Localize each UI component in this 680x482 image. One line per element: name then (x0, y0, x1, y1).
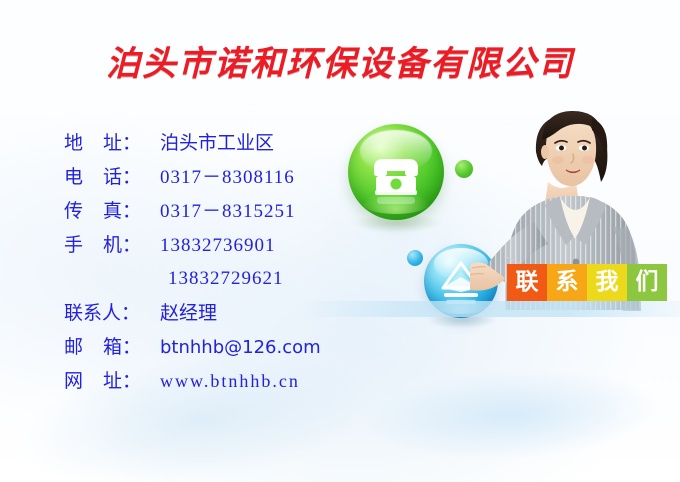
contact-row: 地址：泊头市工业区 (64, 126, 364, 160)
contact-row: 电话：0317－8308116 (64, 160, 364, 194)
telephone-glyph (348, 124, 444, 220)
contact-row-value: 13832729621 (168, 262, 284, 296)
contact-row-label: 网址： (64, 364, 160, 398)
bottom-band (300, 301, 680, 317)
contact-row-label: 联系人： (64, 296, 160, 330)
contact-row-label: 传真： (64, 194, 160, 228)
contact-row: 手机：13832736901 (64, 228, 364, 262)
contact-us-tile: 联 (507, 264, 547, 301)
contact-row-value: www.btnhhb.cn (160, 364, 300, 398)
contact-row-label: 电话： (64, 160, 160, 194)
contact-row-value: 0317－8315251 (160, 195, 296, 229)
contact-row: 邮箱：btnhhb@126.com (64, 330, 364, 364)
contact-row: 13832729621 (64, 262, 364, 296)
telephone-icon (348, 124, 444, 220)
contact-us-tile: 我 (587, 264, 627, 301)
contact-row: 传真：0317－8315251 (64, 194, 364, 228)
contact-row-value: 泊头市工业区 (160, 126, 274, 160)
contact-row-label: 邮箱： (64, 330, 160, 364)
contact-us-tile: 们 (627, 264, 667, 301)
contact-us-tile: 系 (547, 264, 587, 301)
contact-details: 地址：泊头市工业区电话：0317－8308116传真：0317－8315251手… (64, 126, 364, 398)
contact-us-tiles: 联系我们 (507, 264, 667, 301)
contact-row-label: 手机： (64, 228, 160, 262)
contact-row-value: btnhhb@126.com (160, 331, 321, 365)
contact-row-value: 赵经理 (160, 296, 217, 330)
contact-row-value: 13832736901 (160, 229, 276, 263)
contact-row: 网址：www.btnhhb.cn (64, 364, 364, 398)
company-title: 泊头市诺和环保设备有限公司 (0, 36, 680, 85)
blue-dot-icon (407, 250, 423, 266)
contact-row-label: 地址： (64, 126, 160, 160)
contact-row-value: 0317－8308116 (160, 161, 295, 195)
contact-poster: 泊头市诺和环保设备有限公司 地址：泊头市工业区电话：0317－8308116传真… (0, 0, 680, 482)
